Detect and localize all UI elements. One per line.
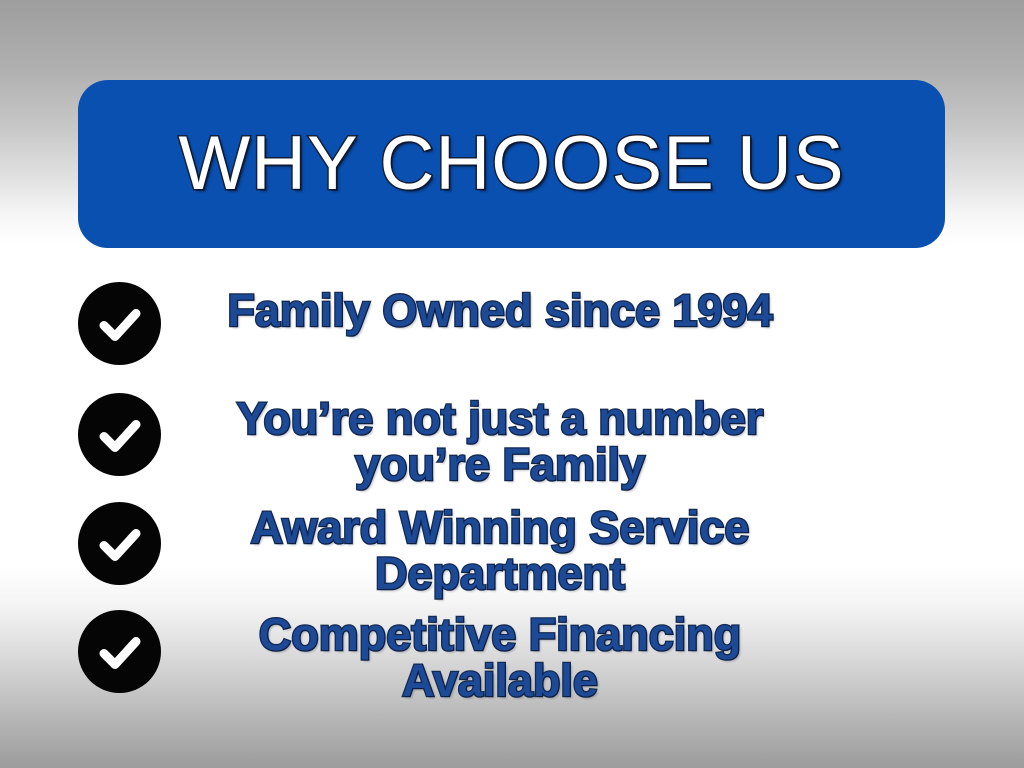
list-item-line: You’re not just a number [190,396,810,442]
list-item-label: Award Winning Service Department [190,505,810,597]
list-item-label: You’re not just a number you’re Family [190,396,810,488]
check-circle-icon [78,393,161,476]
slide-canvas: WHY CHOOSE US Family Owned since 1994 Yo… [0,0,1024,768]
list-item-line: Family Owned since 1994 [190,288,810,334]
list-item-label: Competitive Financing Available [190,612,810,704]
list-item: Family Owned since 1994 [0,272,1024,382]
check-circle-icon [78,610,161,693]
benefits-list: Family Owned since 1994 You’re not just … [0,272,1024,710]
list-item: You’re not just a number you’re Family [0,382,1024,491]
title-banner: WHY CHOOSE US [78,80,945,248]
page-title: WHY CHOOSE US [178,126,844,202]
check-circle-icon [78,282,161,365]
list-item-line: Department [190,551,810,597]
list-item-line: Competitive Financing [190,612,810,658]
list-item-line: Award Winning Service [190,505,810,551]
check-circle-icon [78,502,161,585]
list-item-line: Available [190,658,810,704]
list-item: Award Winning Service Department [0,491,1024,600]
list-item: Competitive Financing Available [0,600,1024,710]
list-item-line: you’re Family [190,442,810,488]
list-item-label: Family Owned since 1994 [190,288,810,334]
